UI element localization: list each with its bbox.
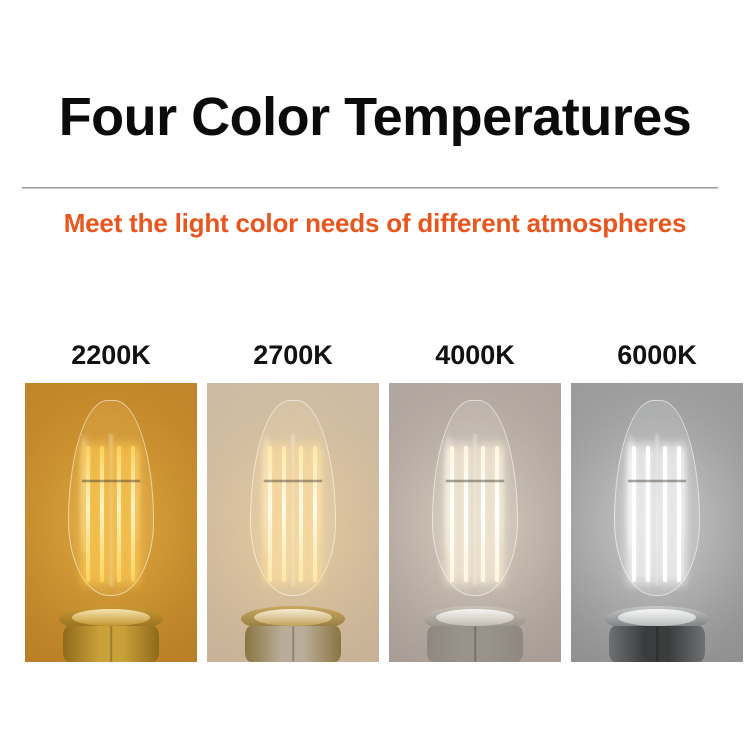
color-temperature-4000k: 4000K xyxy=(389,383,561,662)
bulb-base-plate-inner xyxy=(254,609,332,626)
filament xyxy=(481,446,485,582)
filament xyxy=(495,446,499,582)
filament xyxy=(450,446,454,582)
filament xyxy=(268,446,272,582)
base-seam xyxy=(474,626,476,662)
bulb-base-stand xyxy=(245,626,341,662)
filament xyxy=(86,446,90,582)
filament xyxy=(117,446,121,582)
bulb-photo xyxy=(571,383,743,662)
color-temperature-2200k: 2200K xyxy=(25,383,197,662)
filament-group xyxy=(630,446,684,582)
filament xyxy=(100,446,104,582)
bulb-base-stand xyxy=(427,626,523,662)
bulb-base-stand xyxy=(63,626,159,662)
filament xyxy=(632,446,636,582)
bulb-photo xyxy=(389,383,561,662)
base-seam xyxy=(656,626,658,662)
bulb-base-plate-inner xyxy=(72,609,150,626)
color-temperature-panels: 2200K xyxy=(25,383,725,662)
infographic-page: Four Color Temperatures Meet the light c… xyxy=(0,0,750,750)
temperature-label: 2700K xyxy=(207,340,379,371)
filament-support-wire xyxy=(628,480,686,482)
filament xyxy=(663,446,667,582)
led-candle-bulb xyxy=(233,394,353,662)
led-candle-bulb xyxy=(597,394,717,662)
temperature-label: 2200K xyxy=(25,340,197,371)
filament xyxy=(299,446,303,582)
led-candle-bulb xyxy=(415,394,535,662)
filament-group xyxy=(84,446,138,582)
filament-support-wire xyxy=(446,480,504,482)
bulb-photo xyxy=(207,383,379,662)
base-seam xyxy=(110,626,112,662)
filament-group xyxy=(448,446,502,582)
filament xyxy=(313,446,317,582)
filament-support-wire xyxy=(82,480,140,482)
color-temperature-6000k: 6000K xyxy=(571,383,743,662)
bulb-base-plate-inner xyxy=(618,609,696,626)
temperature-label: 4000K xyxy=(389,340,561,371)
led-candle-bulb xyxy=(51,394,171,662)
filament xyxy=(464,446,468,582)
temperature-label: 6000K xyxy=(571,340,743,371)
page-subtitle: Meet the light color needs of different … xyxy=(0,208,750,239)
filament xyxy=(131,446,135,582)
bulb-base-plate-inner xyxy=(436,609,514,626)
filament xyxy=(282,446,286,582)
bulb-photo xyxy=(25,383,197,662)
filament-group xyxy=(266,446,320,582)
page-title: Four Color Temperatures xyxy=(0,88,750,146)
base-seam xyxy=(292,626,294,662)
header-divider xyxy=(22,187,718,189)
bulb-base-stand xyxy=(609,626,705,662)
filament xyxy=(646,446,650,582)
color-temperature-2700k: 2700K xyxy=(207,383,379,662)
filament xyxy=(677,446,681,582)
filament-support-wire xyxy=(264,480,322,482)
